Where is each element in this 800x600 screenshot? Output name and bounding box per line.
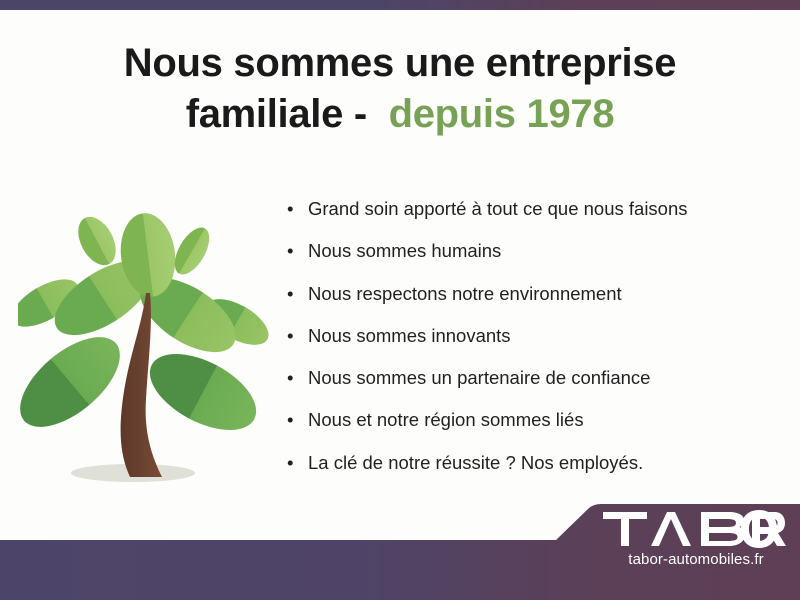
headline-spacer [367, 92, 389, 136]
headline-dash [343, 92, 354, 136]
slide-canvas: Nous sommes une entreprise familiale - d… [0, 10, 800, 540]
leaf-top-left-small [71, 211, 124, 272]
bullet-icon: • [287, 240, 293, 261]
list-item-label: Nous et notre région sommes liés [308, 409, 584, 430]
list-item-label: Nous sommes humains [308, 240, 501, 261]
bullet-icon: • [287, 409, 293, 430]
leaf-lower-right [138, 338, 269, 445]
page-title: Nous sommes une entreprise familiale - d… [40, 38, 760, 140]
bullet-icon: • [287, 367, 293, 388]
brand-website[interactable]: tabor-automobiles.fr [596, 551, 796, 568]
headline-line-2-plain: familiale [186, 92, 343, 136]
list-item-label: Nous sommes innovants [308, 325, 511, 346]
list-item-label: La clé de notre réussite ? Nos employés. [308, 452, 643, 473]
list-item: • Nous sommes un partenaire de confiance [283, 367, 783, 388]
leaf-lower-left [18, 320, 135, 443]
bullet-icon: • [287, 452, 293, 473]
brand-logo[interactable]: tabor-automobiles.fr [596, 508, 796, 568]
headline-line-1: Nous sommes une entreprise [124, 41, 676, 85]
list-item-label: Nous respectons notre environnement [308, 283, 622, 304]
value-bullet-list: • Grand soin apporté à tout ce que nous … [283, 198, 783, 473]
list-item: • Grand soin apporté à tout ce que nous … [283, 198, 783, 219]
list-item: • Nous et notre région sommes liés [283, 409, 783, 430]
list-item-label: Grand soin apporté à tout ce que nous fa… [308, 198, 688, 219]
list-item: • Nous respectons notre environnement [283, 283, 783, 304]
tree-illustration [18, 185, 273, 505]
headline-dash-glyph: - [354, 92, 367, 136]
leaf-top-right-small [168, 222, 217, 280]
headline-accent: depuis 1978 [389, 92, 615, 136]
list-item-label: Nous sommes un partenaire de confiance [308, 367, 650, 388]
tabor-wordmark-icon [601, 508, 791, 550]
list-item: • La clé de notre réussite ? Nos employé… [283, 452, 783, 473]
bullet-icon: • [287, 283, 293, 304]
list-item: • Nous sommes innovants [283, 325, 783, 346]
bullet-icon: • [287, 325, 293, 346]
list-item: • Nous sommes humains [283, 240, 783, 261]
bullet-icon: • [287, 198, 293, 219]
top-accent-bar [0, 0, 800, 10]
